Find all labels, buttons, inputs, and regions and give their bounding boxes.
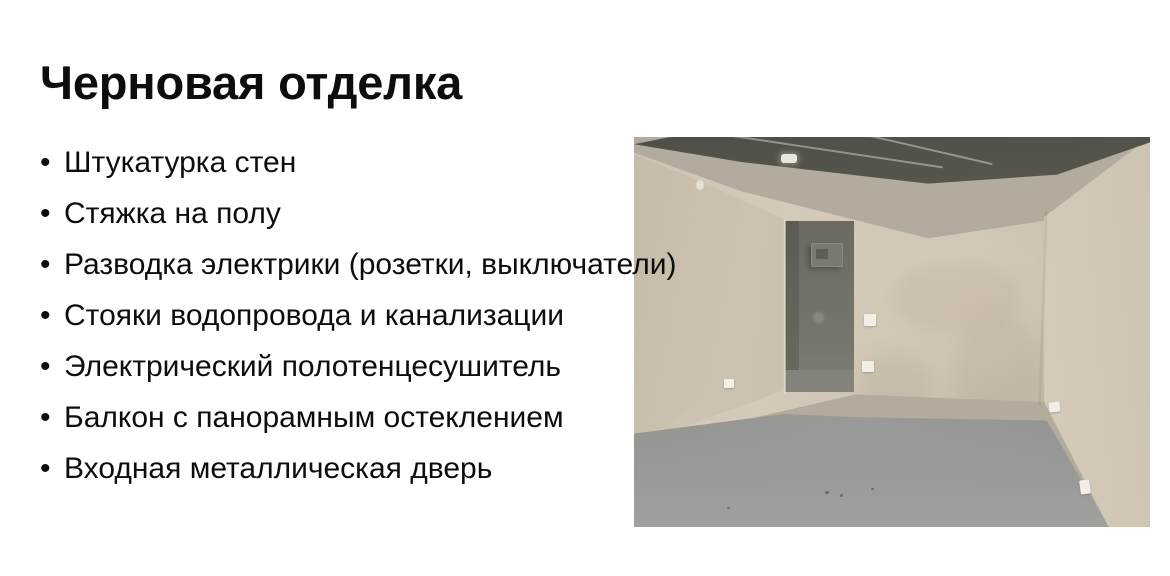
list-item-label: Штукатурка стен xyxy=(64,142,296,184)
list-item: • Штукатурка стен xyxy=(40,142,800,193)
bullet-marker-icon: • xyxy=(40,397,64,439)
list-item-label: Стяжка на полу xyxy=(64,193,281,235)
wall-socket-icon xyxy=(1049,402,1061,413)
list-item: • Электрический полотенцесушитель xyxy=(40,346,800,397)
wall-socket-icon xyxy=(864,314,876,326)
page-title: Черновая отделка xyxy=(40,57,462,109)
doorway-wall-mark xyxy=(813,312,824,323)
list-item-label: Электрический полотенцесушитель xyxy=(64,346,561,388)
wall-blotch xyxy=(954,316,1044,436)
bullet-marker-icon: • xyxy=(40,244,64,286)
bullet-marker-icon: • xyxy=(40,346,64,388)
list-item: • Разводка электрики (розетки, выключате… xyxy=(40,244,800,295)
list-item-label: Входная металлическая дверь xyxy=(64,448,492,490)
floor-debris xyxy=(871,488,874,490)
wall-socket-icon xyxy=(862,361,874,372)
list-item: • Стояки водопровода и канализации xyxy=(40,295,800,346)
floor-debris xyxy=(727,507,730,509)
list-item-label: Балкон с панорамным остеклением xyxy=(64,397,564,439)
feature-bullet-list: • Штукатурка стен • Стяжка на полу • Раз… xyxy=(40,142,800,499)
floor-debris xyxy=(840,494,843,497)
list-item-label: Разводка электрики (розетки, выключатели… xyxy=(64,244,676,286)
list-item: • Входная металлическая дверь xyxy=(40,448,800,499)
bullet-marker-icon: • xyxy=(40,448,64,490)
slide-root: Черновая отделка xyxy=(0,0,1170,576)
electrical-panel-box xyxy=(811,243,843,267)
list-item-label: Стояки водопровода и канализации xyxy=(64,295,564,337)
list-item: • Стяжка на полу xyxy=(40,193,800,244)
bullet-marker-icon: • xyxy=(40,193,64,235)
floor-debris xyxy=(825,491,829,494)
bullet-marker-icon: • xyxy=(40,142,64,184)
bullet-marker-icon: • xyxy=(40,295,64,337)
list-item: • Балкон с панорамным остеклением xyxy=(40,397,800,448)
